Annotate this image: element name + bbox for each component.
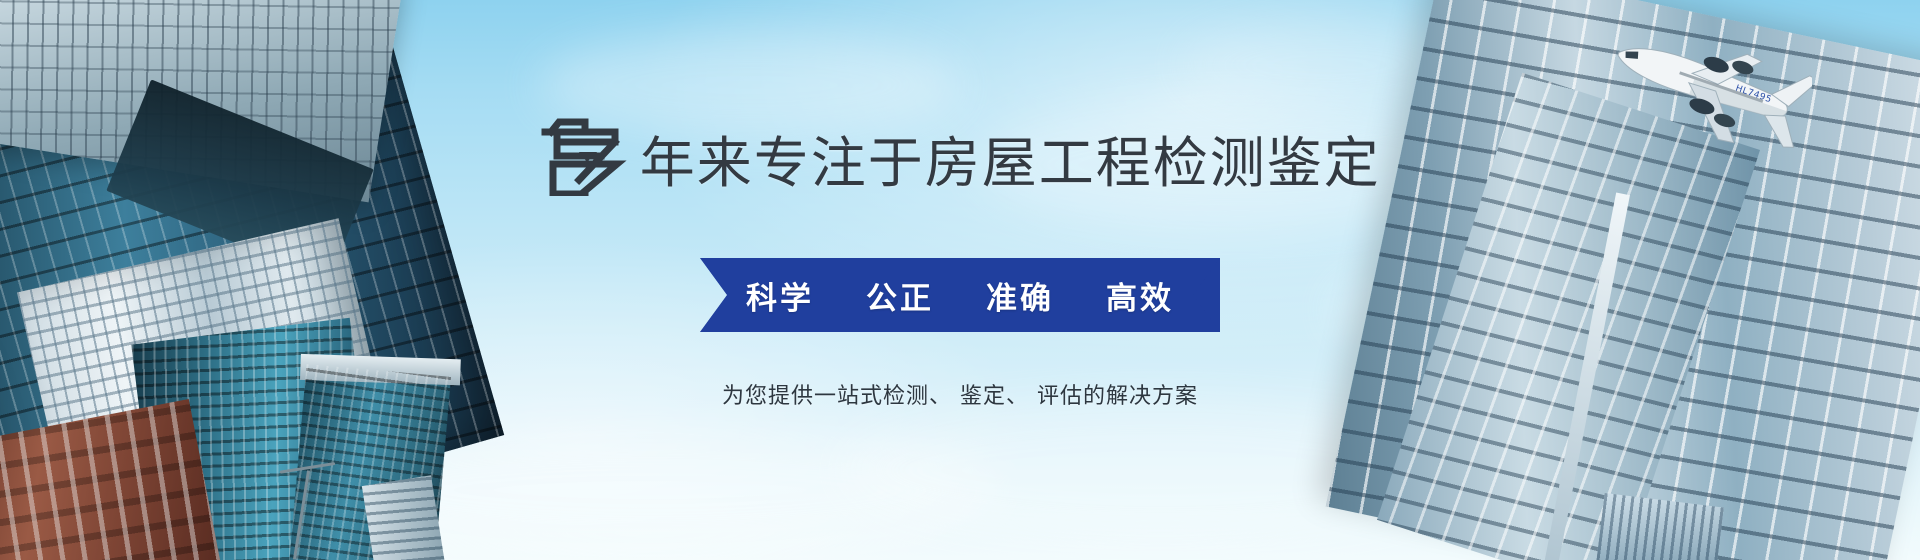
value-word-zhunque: 准确 xyxy=(986,273,1054,318)
banner-copy: 年来专注于房屋工程检测鉴定 科学 公正 准确 高效 为您提供一站式检测、 鉴定、… xyxy=(0,0,1920,560)
value-word-gaoxiao: 高效 xyxy=(1106,273,1174,318)
hero-banner: HL7495 年来专注于房屋工程检测鉴定 xyxy=(0,0,1920,560)
values-ribbon-inner: 科学 公正 准确 高效 xyxy=(700,258,1220,332)
duo-logo-glyph-icon xyxy=(539,112,631,196)
banner-subtitle: 为您提供一站式检测、 鉴定、 评估的解决方案 xyxy=(0,378,1920,410)
page-title: 年来专注于房屋工程检测鉴定 xyxy=(0,112,1920,196)
values-ribbon: 科学 公正 准确 高效 xyxy=(700,258,1220,332)
value-word-gongzheng: 公正 xyxy=(866,273,934,318)
value-word-kexue: 科学 xyxy=(746,273,814,318)
page-title-text: 年来专注于房屋工程检测鉴定 xyxy=(640,136,1381,191)
